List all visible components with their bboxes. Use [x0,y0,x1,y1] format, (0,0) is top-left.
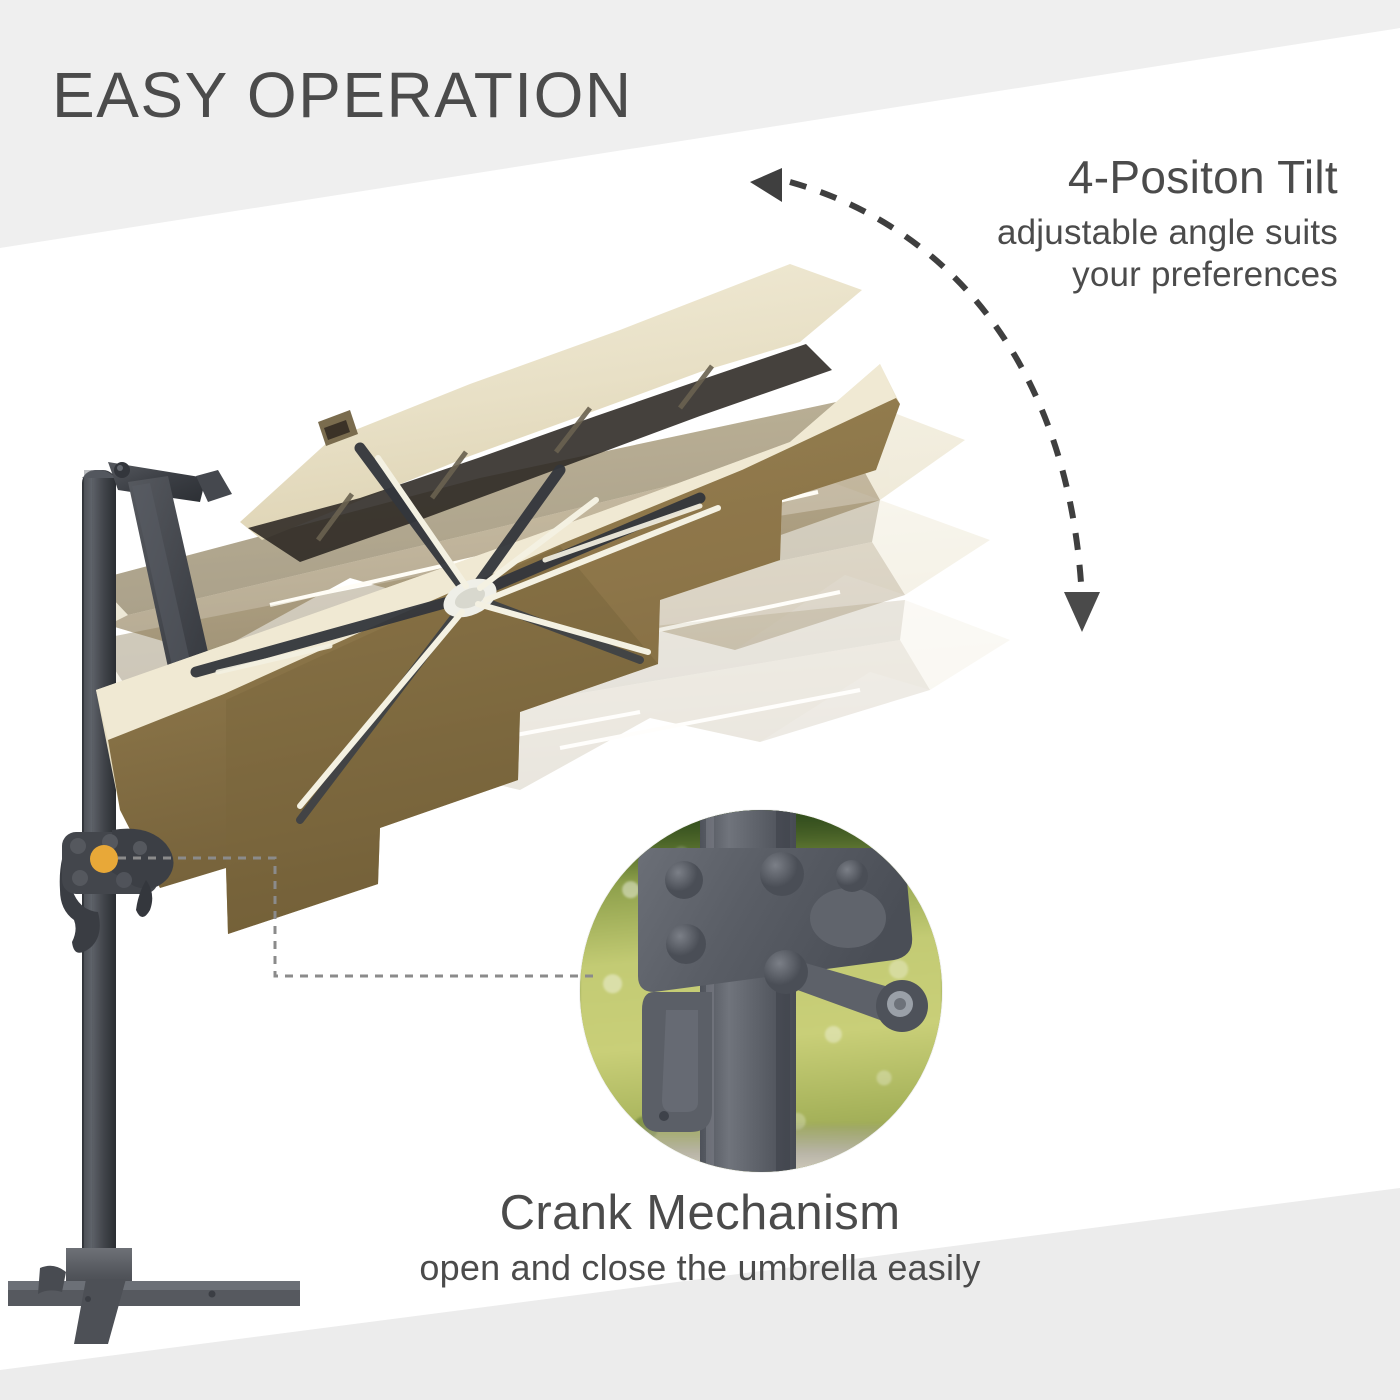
crank-callout-title: Crank Mechanism [0,1185,1400,1241]
tilt-callout-subtitle: adjustable angle suits your preferences [868,212,1338,297]
crank-callout: Crank Mechanism open and close the umbre… [0,1185,1400,1289]
tilt-pivot-joint [60,829,174,953]
tilt-subtitle-line-2: your preferences [868,254,1338,297]
tilt-subtitle-line-1: adjustable angle suits [868,212,1338,255]
umbrella-canopy [96,264,900,934]
crank-callout-subtitle: open and close the umbrella easily [0,1247,1400,1289]
tilt-callout: 4-Positon Tilt adjustable angle suits yo… [868,152,1338,297]
pivot-marker-icon [90,845,118,873]
tilt-callout-title: 4-Positon Tilt [868,152,1338,204]
page-title: EASY OPERATION [52,58,633,132]
infographic-canvas: EASY OPERATION 4-Positon Tilt adjustable… [0,0,1400,1400]
tilt-arrow-end-icon [1064,592,1100,632]
tilt-arrow-start-icon [750,168,782,202]
